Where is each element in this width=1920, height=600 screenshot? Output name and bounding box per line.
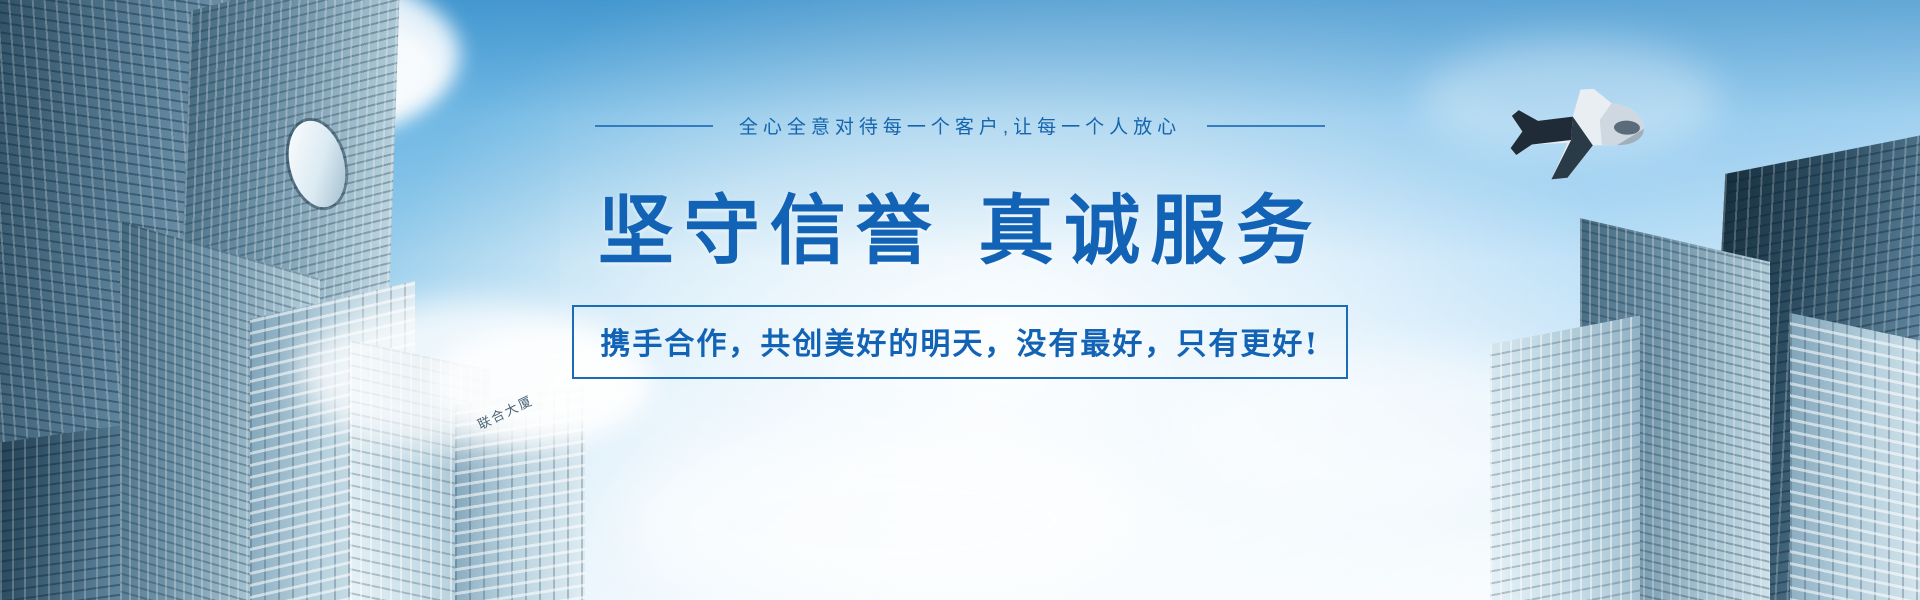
tagline-rule-right — [1207, 125, 1325, 127]
banner-content: 全心全意对待每一个客户,让每一个人放心 坚守信誉 真诚服务 携手合作，共创美好的… — [0, 0, 1920, 600]
tagline-row: 全心全意对待每一个客户,让每一个人放心 — [595, 112, 1325, 139]
tagline-text: 全心全意对待每一个客户,让每一个人放心 — [739, 112, 1181, 139]
tagline-rule-left — [595, 125, 713, 127]
headline-text: 坚守信誉 真诚服务 — [598, 169, 1322, 279]
subtitle-text: 携手合作，共创美好的明天，没有最好，只有更好! — [600, 319, 1319, 363]
hero-banner: 联合大厦 全心全意对待每一个客户,让每一个人放心 坚守信誉 真诚服务 携手合作，… — [0, 0, 1920, 600]
subtitle-box: 携手合作，共创美好的明天，没有最好，只有更好! — [572, 305, 1347, 379]
